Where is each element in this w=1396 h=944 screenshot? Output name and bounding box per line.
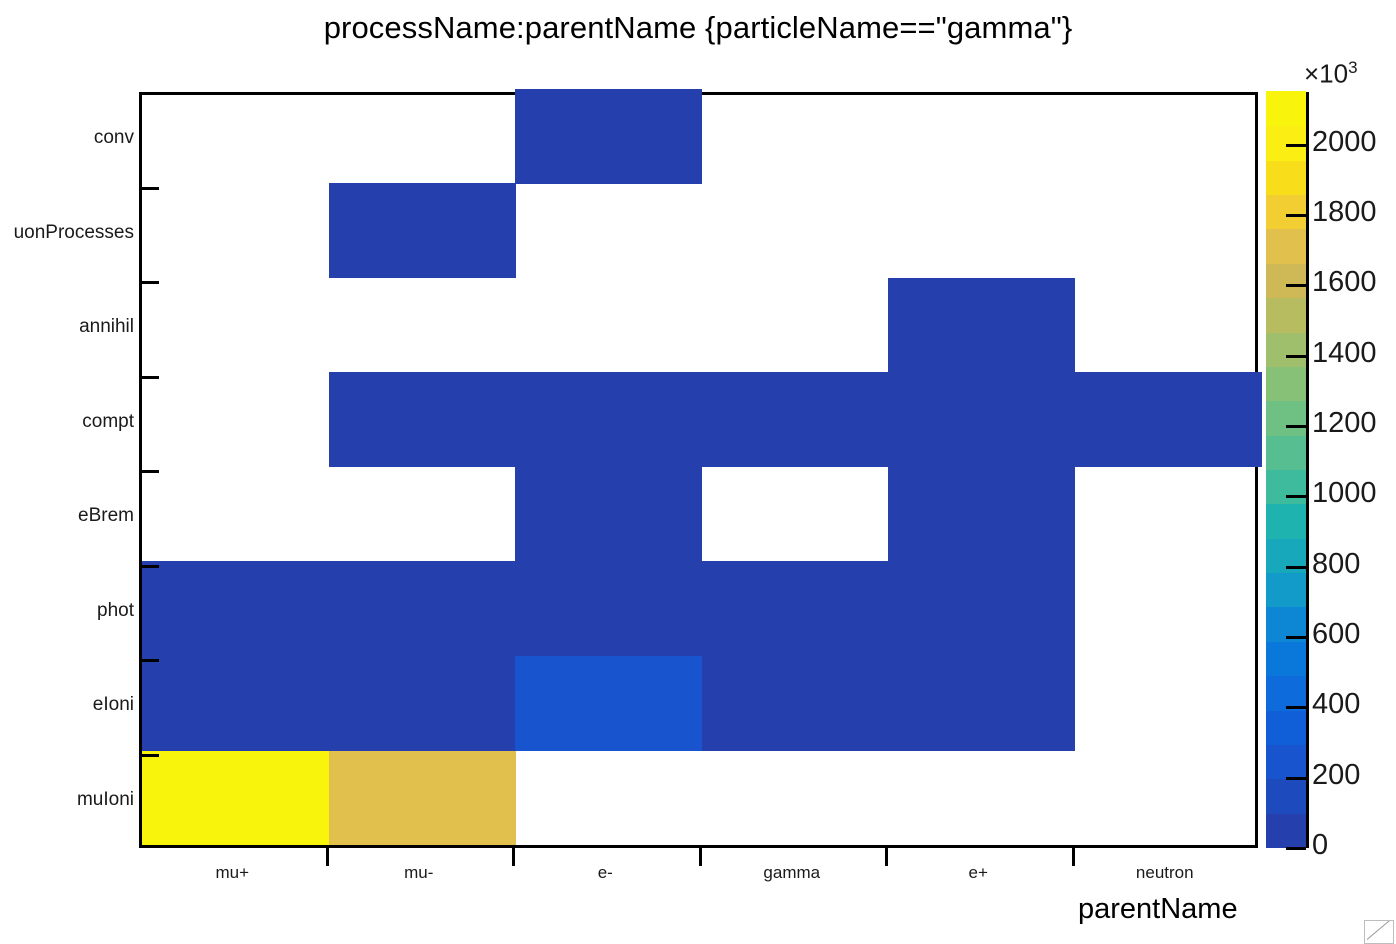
colorbar-tick (1286, 355, 1306, 358)
heatmap-cell (702, 656, 889, 751)
x-axis-label: e- (512, 863, 699, 883)
colorbar-band (1266, 504, 1306, 539)
colorbar-tick-label: 1800 (1312, 196, 1377, 229)
colorbar-tick-label: 400 (1312, 688, 1360, 721)
x-axis-title: parentName (1078, 893, 1238, 926)
colorbar-tick-label: 1600 (1312, 266, 1377, 299)
heatmap-cell (515, 372, 702, 467)
colorbar-tick (1286, 706, 1306, 709)
heatmap-cell (888, 561, 1075, 656)
heatmap-cell (888, 656, 1075, 751)
heatmap-cell (329, 750, 516, 845)
colorbar-band (1266, 744, 1306, 779)
colorbar-band (1266, 194, 1306, 229)
colorbar-band (1266, 332, 1306, 367)
colorbar-tick (1286, 495, 1306, 498)
colorbar-band (1266, 813, 1306, 848)
heatmap-cell (329, 183, 516, 278)
y-axis-label: muIoni (77, 789, 134, 811)
colorbar-band (1266, 91, 1306, 126)
colorbar-exponent-power: 3 (1348, 58, 1357, 77)
heatmap-cell (702, 561, 889, 656)
colorbar-exponent: ×103 (1304, 58, 1358, 90)
colorbar (1266, 92, 1309, 848)
colorbar-tick-label: 600 (1312, 618, 1360, 651)
x-axis-label: mu+ (139, 863, 326, 883)
colorbar-tick (1286, 777, 1306, 780)
x-axis-label: neutron (1072, 863, 1259, 883)
heatmap-cell (329, 372, 516, 467)
y-axis-tick (139, 281, 159, 284)
heatmap-cell (142, 561, 329, 656)
colorbar-band (1266, 263, 1306, 298)
colorbar-tick (1286, 284, 1306, 287)
colorbar-tick (1286, 847, 1306, 850)
x-axis-label: gamma (699, 863, 886, 883)
heatmap-cell (515, 561, 702, 656)
y-axis-label: uonProcesses (14, 222, 134, 244)
colorbar-band (1266, 160, 1306, 195)
heatmap-cell (515, 89, 702, 184)
colorbar-band (1266, 710, 1306, 745)
colorbar-tick (1286, 636, 1306, 639)
root-canvas: processName:parentName {particleName=="g… (0, 0, 1396, 944)
colorbar-exponent-base: ×10 (1304, 59, 1348, 89)
colorbar-band (1266, 676, 1306, 711)
colorbar-tick (1286, 144, 1306, 147)
colorbar-tick-label: 1400 (1312, 337, 1377, 370)
y-axis-tick (139, 376, 159, 379)
y-axis-tick (139, 659, 159, 662)
heatmap-cell (888, 467, 1075, 562)
colorbar-tick (1286, 214, 1306, 217)
colorbar-band (1266, 298, 1306, 333)
colorbar-band (1266, 435, 1306, 470)
colorbar-tick-label: 800 (1312, 548, 1360, 581)
colorbar-gradient (1266, 92, 1306, 848)
heatmap-cell (515, 467, 702, 562)
colorbar-tick-label: 0 (1312, 829, 1328, 862)
y-axis-label: annihil (79, 316, 134, 338)
heatmap-cell (142, 750, 329, 845)
colorbar-band (1266, 469, 1306, 504)
heatmap-cell (515, 656, 702, 751)
heatmap-cell (329, 656, 516, 751)
x-axis-label: mu- (326, 863, 513, 883)
colorbar-band (1266, 641, 1306, 676)
resize-grip[interactable] (1364, 920, 1394, 944)
colorbar-tick-label: 1000 (1312, 477, 1377, 510)
y-axis-tick (139, 470, 159, 473)
y-axis-tick (139, 754, 159, 757)
y-axis-tick (139, 187, 159, 190)
colorbar-band (1266, 229, 1306, 264)
page-title: processName:parentName {particleName=="g… (0, 10, 1396, 46)
colorbar-tick-label: 200 (1312, 759, 1360, 792)
y-axis-tick (139, 565, 159, 568)
colorbar-tick-label: 1200 (1312, 407, 1377, 440)
colorbar-band (1266, 779, 1306, 814)
heatmap-cell (888, 372, 1075, 467)
heatmap-cell (142, 656, 329, 751)
colorbar-band (1266, 366, 1306, 401)
heatmap-cell (888, 278, 1075, 373)
colorbar-tick (1286, 566, 1306, 569)
colorbar-band (1266, 572, 1306, 607)
heatmap-cell (1075, 372, 1262, 467)
y-axis-label: compt (82, 411, 134, 433)
colorbar-band (1266, 401, 1306, 436)
plot-frame (139, 92, 1258, 848)
heatmap-cells (142, 95, 1255, 845)
y-axis-label: eBrem (78, 505, 134, 527)
heatmap-cell (329, 561, 516, 656)
heatmap-cell (702, 372, 889, 467)
colorbar-tick-label: 2000 (1312, 126, 1377, 159)
colorbar-tick (1286, 425, 1306, 428)
x-axis-label: e+ (885, 863, 1072, 883)
y-axis-label: conv (94, 127, 134, 149)
y-axis-label: eIoni (93, 694, 134, 716)
y-axis-label: phot (97, 600, 134, 622)
